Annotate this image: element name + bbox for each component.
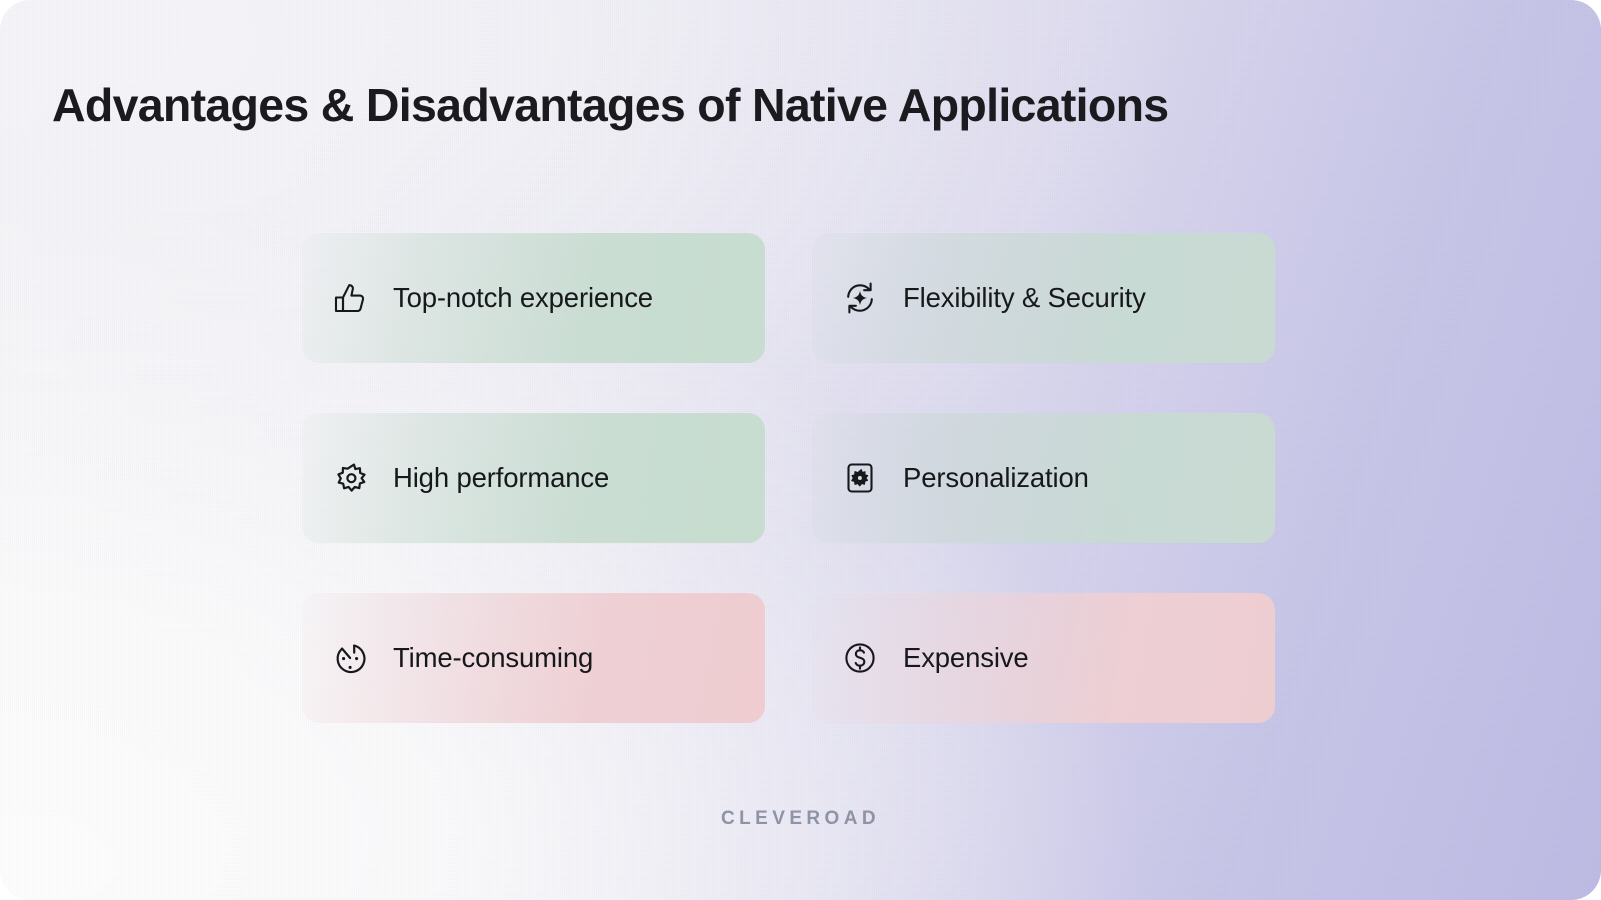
brand-logo-text: CLEVEROAD [0,808,1601,830]
card-label: Personalization [903,462,1089,494]
card-label: Expensive [903,642,1029,674]
gradient-board: Advantages & Disadvantages of Native App… [0,0,1601,900]
card-high-performance[interactable]: High performance [302,413,765,543]
card-flexibility-security[interactable]: Flexibility & Security [812,233,1275,363]
gear-icon [328,456,372,500]
card-label: Time-consuming [393,642,593,674]
card-label: Top-notch experience [393,282,653,314]
timer-icon [328,636,372,680]
settings-panel-icon [838,456,882,500]
infographic-canvas: Advantages & Disadvantages of Native App… [0,0,1601,900]
refresh-sparkle-icon [838,276,882,320]
card-top-notch-experience[interactable]: Top-notch experience [302,233,765,363]
card-label: Flexibility & Security [903,282,1146,314]
page-title: Advantages & Disadvantages of Native App… [52,78,1552,133]
card-time-consuming[interactable]: Time-consuming [302,593,765,723]
card-expensive[interactable]: Expensive [812,593,1275,723]
card-label: High performance [393,462,609,494]
benefits-grid: Top-notch experience Flexibility & Secur… [302,233,1272,723]
card-personalization[interactable]: Personalization [812,413,1275,543]
thumbs-up-icon [328,276,372,320]
dollar-circle-icon [838,636,882,680]
